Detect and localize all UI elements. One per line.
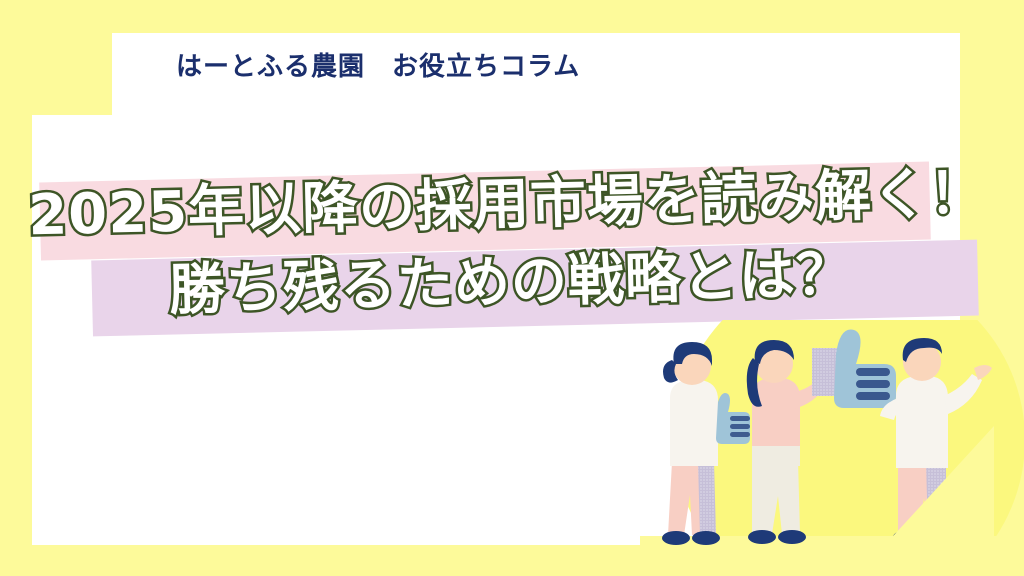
slide-canvas: はーとふる農園 お役立ちコラム xyxy=(0,0,1024,576)
headline: 2025年以降の採用市場を読み解く！ 勝ち残るための戦略とは？ xyxy=(0,154,1024,334)
page-header-title: はーとふる農園 お役立ちコラム xyxy=(176,46,580,83)
corner-notch-top-left xyxy=(32,33,112,115)
